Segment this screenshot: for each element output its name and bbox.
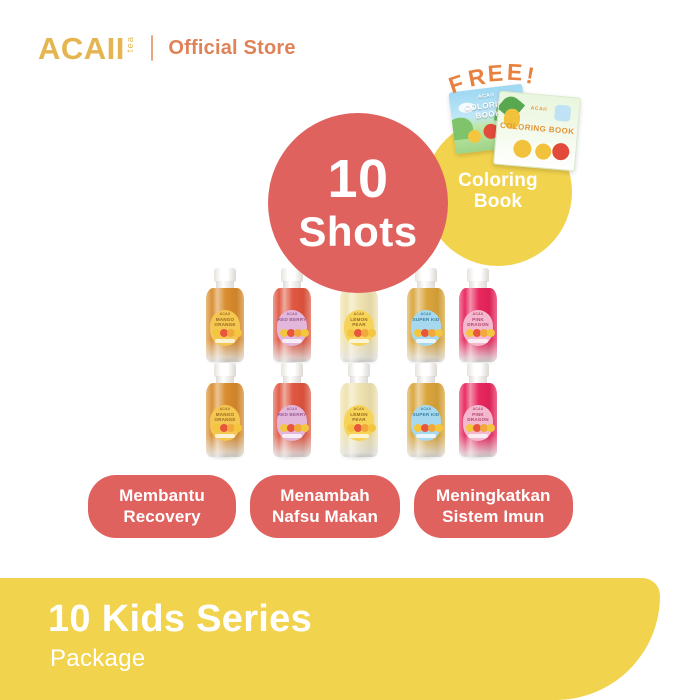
product-bottle[interactable]: ACAII RED BERRY xyxy=(270,268,314,364)
label-character xyxy=(301,329,309,337)
bottle-body: ACAII MANGO ORANGE xyxy=(206,383,244,457)
label-footer-bar xyxy=(282,339,302,343)
product-bottle[interactable]: ACAII MANGO ORANGE xyxy=(203,268,247,364)
brand-header: ACAII tea Official Store xyxy=(38,31,296,65)
bottle-cap xyxy=(415,268,437,282)
label-character xyxy=(435,424,443,432)
benefits-row: Membantu Recovery Menambah Nafsu Makan M… xyxy=(88,475,573,538)
product-bottle[interactable]: ACAII SUPER KID xyxy=(404,268,448,364)
label-footer-bar xyxy=(215,434,235,438)
acaii-logo: ACAII tea xyxy=(38,33,135,64)
official-store-label: Official Store xyxy=(168,37,295,60)
label-flavor: SUPER KID xyxy=(413,413,440,418)
free-label: F R E E ! xyxy=(455,58,565,92)
label-character xyxy=(301,424,309,432)
product-bottle[interactable]: ACAII RED BERRY xyxy=(270,363,314,459)
free-letter: ! xyxy=(524,62,536,90)
label-character xyxy=(368,329,376,337)
label-footer-bar xyxy=(282,434,302,438)
benefit-line2: Recovery xyxy=(110,507,214,528)
label-brand: ACAII xyxy=(220,408,231,411)
label-artwork xyxy=(280,326,304,337)
label-artwork xyxy=(347,421,371,432)
brand-divider xyxy=(151,35,153,61)
bottle-body: ACAII SUPER KID xyxy=(407,288,445,362)
label-flavor: RED BERRY xyxy=(278,413,307,418)
product-bottle[interactable]: ACAII MANGO ORANGE xyxy=(203,363,247,459)
label-flavor: SUPER KID xyxy=(413,318,440,323)
book-character-orange xyxy=(535,143,552,160)
label-brand: ACAII xyxy=(287,408,298,411)
label-character xyxy=(487,424,495,432)
book-title-text: COLORING BOOK xyxy=(497,122,577,138)
coloring-book-line1: Coloring xyxy=(424,170,572,191)
label-footer-bar xyxy=(468,339,488,343)
bottle-label: ACAII LEMON PEAR xyxy=(344,405,374,441)
bottle-body: ACAII PINK DRAGON xyxy=(459,288,497,362)
label-character xyxy=(234,329,242,337)
bottle-body: ACAII RED BERRY xyxy=(273,288,311,362)
label-artwork xyxy=(414,326,438,337)
label-character xyxy=(234,424,242,432)
free-letter: R xyxy=(466,63,487,93)
bottle-cap xyxy=(214,268,236,282)
label-brand: ACAII xyxy=(473,313,484,316)
ten-shots-badge: 10 Shots xyxy=(268,113,448,293)
shots-word: Shots xyxy=(298,210,417,254)
bottle-label: ACAII LEMON PEAR xyxy=(344,310,374,346)
benefit-line2: Sistem Imun xyxy=(436,507,551,528)
book-character-lemon xyxy=(467,129,481,143)
label-footer-bar xyxy=(416,434,436,438)
label-flavor: RED BERRY xyxy=(278,318,307,323)
logo-tea-subscript: tea xyxy=(126,36,136,52)
label-brand: ACAII xyxy=(354,313,365,316)
benefit-pill[interactable]: Meningkatkan Sistem Imun xyxy=(414,475,573,538)
book-character-strawberry xyxy=(552,142,570,160)
benefit-line1: Meningkatkan xyxy=(436,486,551,507)
benefit-line2: Nafsu Makan xyxy=(272,507,378,528)
coloring-book-label: Coloring Book xyxy=(424,170,572,213)
book-character-lemon xyxy=(513,139,533,159)
label-character xyxy=(487,329,495,337)
product-bottle[interactable]: ACAII LEMON PEAR xyxy=(337,363,381,459)
free-letter: E xyxy=(506,59,523,87)
bottle-label: ACAII SUPER KID xyxy=(411,405,441,441)
footer-title: 10 Kids Series xyxy=(48,598,312,641)
label-brand: ACAII xyxy=(473,408,484,411)
bottle-cap xyxy=(281,363,303,377)
label-footer-bar xyxy=(468,434,488,438)
label-brand: ACAII xyxy=(287,313,298,316)
label-artwork xyxy=(466,326,490,337)
label-footer-bar xyxy=(349,434,369,438)
label-footer-bar xyxy=(416,339,436,343)
benefit-pill[interactable]: Membantu Recovery xyxy=(88,475,236,538)
coloring-book-line2: Book xyxy=(424,191,572,212)
label-character xyxy=(435,329,443,337)
bottle-label: ACAII PINK DRAGON xyxy=(463,310,493,346)
label-artwork xyxy=(414,421,438,432)
logo-wordmark: ACAII xyxy=(38,33,125,64)
bottle-label: ACAII MANGO ORANGE xyxy=(210,405,240,441)
bottle-body: ACAII MANGO ORANGE xyxy=(206,288,244,362)
footer-subtitle: Package xyxy=(50,645,146,673)
label-brand: ACAII xyxy=(421,408,432,411)
label-brand: ACAII xyxy=(354,408,365,411)
bottle-cap xyxy=(467,268,489,282)
product-bottle[interactable]: ACAII PINK DRAGON xyxy=(456,268,500,364)
bottle-label: ACAII MANGO ORANGE xyxy=(210,310,240,346)
label-footer-bar xyxy=(215,339,235,343)
bottle-label: ACAII SUPER KID xyxy=(411,310,441,346)
bottle-body: ACAII LEMON PEAR xyxy=(340,383,378,457)
bottle-body: ACAII PINK DRAGON xyxy=(459,383,497,457)
label-brand: ACAII xyxy=(220,313,231,316)
product-bottle[interactable]: ACAII SUPER KID xyxy=(404,363,448,459)
bottle-cap xyxy=(467,363,489,377)
label-brand: ACAII xyxy=(421,313,432,316)
product-poster: ACAII tea Official Store ACAII COLORING … xyxy=(0,0,700,700)
free-letter: E xyxy=(487,60,504,88)
label-artwork xyxy=(280,421,304,432)
benefit-line1: Menambah xyxy=(272,486,378,507)
bottle-cap xyxy=(214,363,236,377)
label-artwork xyxy=(213,421,237,432)
bottle-label: ACAII RED BERRY xyxy=(277,405,307,441)
label-character xyxy=(368,424,376,432)
label-artwork xyxy=(466,421,490,432)
bottle-label: ACAII PINK DRAGON xyxy=(463,405,493,441)
coloring-book-cover-2: ACAII COLORING BOOK xyxy=(493,91,581,172)
label-footer-bar xyxy=(349,339,369,343)
label-artwork xyxy=(347,326,371,337)
shots-number: 10 xyxy=(327,152,388,206)
bottle-label: ACAII RED BERRY xyxy=(277,310,307,346)
bottle-body: ACAII RED BERRY xyxy=(273,383,311,457)
benefit-pill[interactable]: Menambah Nafsu Makan xyxy=(250,475,400,538)
bottle-body: ACAII SUPER KID xyxy=(407,383,445,457)
benefit-line1: Membantu xyxy=(110,486,214,507)
bottle-body: ACAII LEMON PEAR xyxy=(340,288,378,362)
bottle-cap xyxy=(348,363,370,377)
product-bottle[interactable]: ACAII PINK DRAGON xyxy=(456,363,500,459)
label-artwork xyxy=(213,326,237,337)
bottle-cap xyxy=(415,363,437,377)
